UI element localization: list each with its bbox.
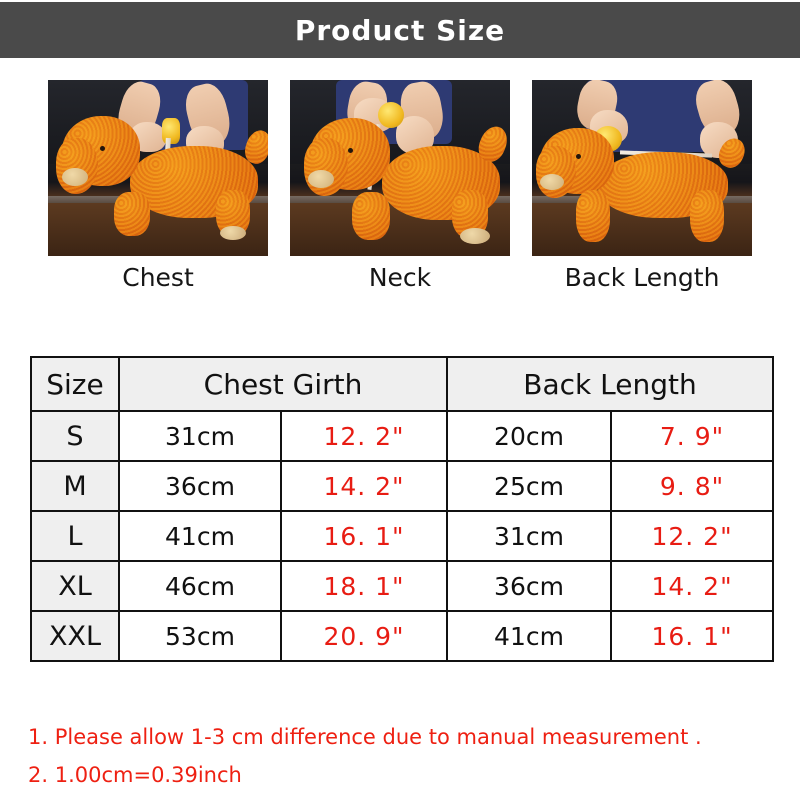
cell-back-cm: 41cm (447, 611, 611, 661)
dog-rear-leg (690, 190, 724, 242)
cell-chest-in: 14. 2" (281, 461, 447, 511)
footer-notes: 1. Please allow 1-3 cm difference due to… (28, 718, 772, 794)
table-row: S 31cm 12. 2" 20cm 7. 9" (31, 411, 773, 461)
cell-chest-cm: 31cm (119, 411, 281, 461)
cell-back-cm: 20cm (447, 411, 611, 461)
cell-back-in: 12. 2" (611, 511, 773, 561)
cell-back-cm: 25cm (447, 461, 611, 511)
cell-chest-in: 12. 2" (281, 411, 447, 461)
tape-measure-reel (378, 102, 404, 128)
dog-paw (460, 228, 490, 244)
cell-chest-cm: 46cm (119, 561, 281, 611)
note-line-2: 2. 1.00cm=0.39inch (28, 756, 772, 794)
caption-chest: Chest (48, 262, 268, 298)
cell-back-in: 7. 9" (611, 411, 773, 461)
cell-size: L (31, 511, 119, 561)
caption-neck: Neck (290, 262, 510, 298)
table-row: M 36cm 14. 2" 25cm 9. 8" (31, 461, 773, 511)
dog-muzzle (62, 168, 88, 186)
photo-neck (290, 80, 510, 256)
cell-size: M (31, 461, 119, 511)
dog-eye (348, 148, 353, 153)
caption-back-length: Back Length (532, 262, 752, 298)
photo-captions: Chest Neck Back Length (48, 262, 752, 298)
header-back-length: Back Length (447, 357, 773, 411)
dog-eye (100, 146, 105, 151)
cell-back-cm: 36cm (447, 561, 611, 611)
cell-chest-in: 16. 1" (281, 511, 447, 561)
dog-front-leg (576, 190, 610, 242)
photo-chest (48, 80, 268, 256)
dog-muzzle (308, 170, 334, 188)
photo-back-length (532, 80, 752, 256)
measurement-photo-strip (48, 80, 752, 256)
cell-size: XL (31, 561, 119, 611)
dog-paw (220, 226, 246, 240)
dog-eye (576, 154, 581, 159)
table-row: XXL 53cm 20. 9" 41cm 16. 1" (31, 611, 773, 661)
dog-muzzle (540, 174, 564, 190)
size-chart-table: Size Chest Girth Back Length S 31cm 12. … (30, 356, 774, 662)
cell-size: XXL (31, 611, 119, 661)
dog-front-leg (352, 192, 390, 240)
cell-back-in: 14. 2" (611, 561, 773, 611)
dog-front-leg (114, 192, 150, 236)
cell-chest-cm: 41cm (119, 511, 281, 561)
page-title: Product Size (295, 14, 505, 47)
page-title-bar: Product Size (0, 2, 800, 58)
cell-chest-cm: 53cm (119, 611, 281, 661)
table-row: L 41cm 16. 1" 31cm 12. 2" (31, 511, 773, 561)
table-row: XL 46cm 18. 1" 36cm 14. 2" (31, 561, 773, 611)
cell-back-cm: 31cm (447, 511, 611, 561)
cell-chest-in: 18. 1" (281, 561, 447, 611)
header-chest-girth: Chest Girth (119, 357, 447, 411)
cell-size: S (31, 411, 119, 461)
cell-back-in: 16. 1" (611, 611, 773, 661)
cell-chest-in: 20. 9" (281, 611, 447, 661)
note-line-1: 1. Please allow 1-3 cm difference due to… (28, 718, 772, 756)
header-size: Size (31, 357, 119, 411)
cell-chest-cm: 36cm (119, 461, 281, 511)
table-header-row: Size Chest Girth Back Length (31, 357, 773, 411)
cell-back-in: 9. 8" (611, 461, 773, 511)
